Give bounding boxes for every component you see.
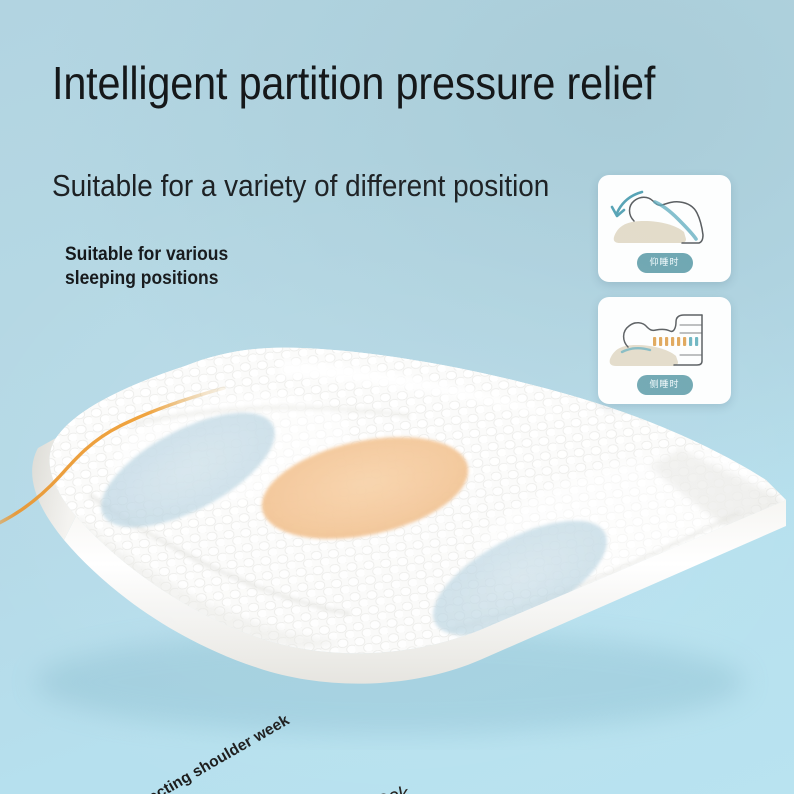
label-most-neck: Most neck: [316, 782, 412, 794]
side-position-card[interactable]: 侧睡时: [598, 297, 731, 404]
side-illustration: [598, 297, 731, 377]
kicker-line-1: Suitable for various: [65, 243, 341, 267]
kicker-text: Suitable for various sleeping positions: [65, 243, 341, 292]
kicker-line-2: sleeping positions: [65, 267, 341, 291]
supine-card-label: 仰睡时: [636, 253, 692, 273]
product-marketing-image: Intelligent partition pressure relief Su…: [0, 0, 794, 794]
page-title: Intelligent partition pressure relief: [52, 58, 700, 110]
side-card-label: 侧睡时: [636, 375, 692, 395]
supine-position-card[interactable]: 仰睡时: [598, 175, 731, 282]
page-subtitle: Suitable for a variety of different posi…: [52, 168, 592, 204]
card2-spine-marker: [653, 337, 698, 346]
card1-pillow: [614, 221, 686, 243]
supine-illustration: [598, 175, 731, 255]
